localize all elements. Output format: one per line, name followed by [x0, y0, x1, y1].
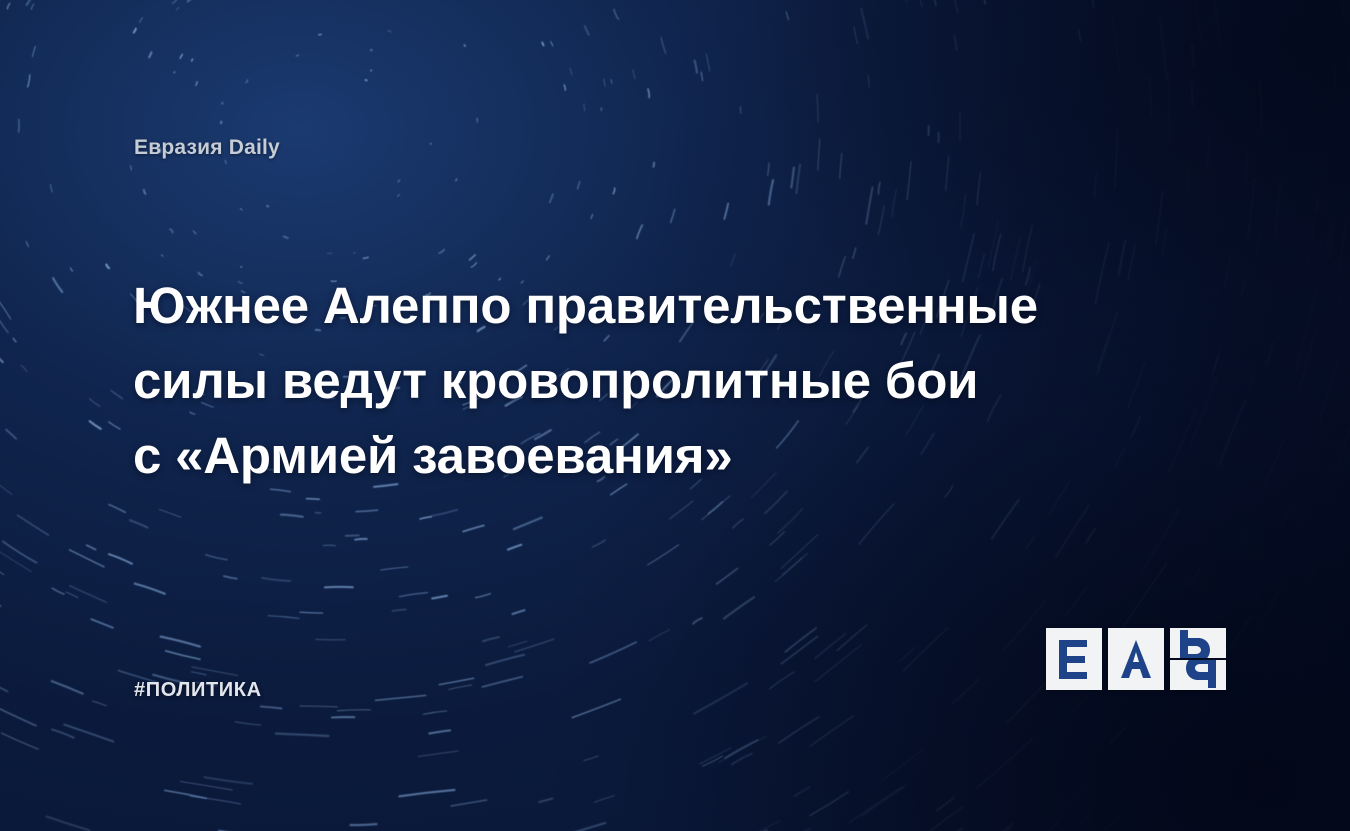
publisher-name: Евразия Daily [134, 136, 280, 160]
headline-line-2: силы ведут кровопролитные бои [133, 343, 1133, 418]
category-hashtag[interactable]: #ПОЛИТИКА [134, 679, 262, 702]
logo-tile-a [1108, 628, 1164, 690]
headline-line-3: с «Армией завоевания» [133, 418, 1133, 493]
letter-d-lower-half-icon [1170, 660, 1226, 690]
logo-tile-d [1170, 628, 1226, 690]
headline: Южнее Алеппо правительственные силы веду… [133, 268, 1133, 493]
headline-line-1: Южнее Алеппо правительственные [133, 268, 1133, 343]
news-share-card: Евразия Daily Южнее Алеппо правительстве… [0, 0, 1350, 831]
letter-d-upper-half-icon [1170, 628, 1226, 658]
letter-a-icon [1117, 638, 1155, 680]
logo-tile-e [1046, 628, 1102, 690]
letter-e-icon [1057, 638, 1091, 680]
ead-logo[interactable] [1046, 628, 1226, 690]
